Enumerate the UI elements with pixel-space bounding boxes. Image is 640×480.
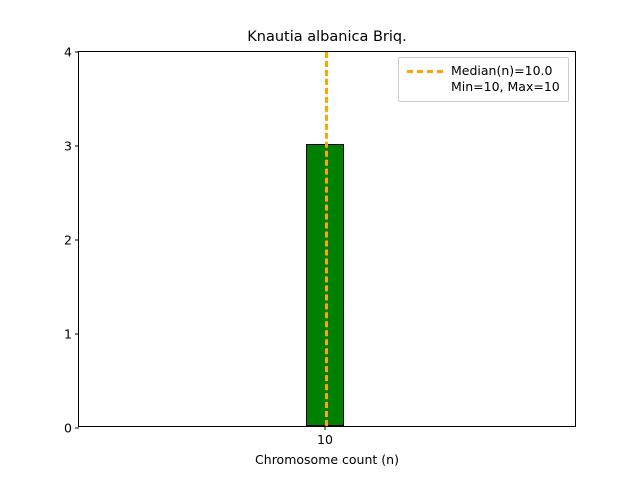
legend-entry-line2: Min=10, Max=10 xyxy=(451,79,560,95)
y-tick-label-2: 2 xyxy=(64,234,79,247)
legend-line-sample-icon xyxy=(407,63,443,79)
x-tick-label-0: 10 xyxy=(317,426,333,446)
y-axis-label: Num of counts (Total 3) xyxy=(16,0,50,51)
plot-area: 0 1 2 3 4 10 xyxy=(78,51,576,427)
chart-figure: Knautia albanica Briq. Num of counts (To… xyxy=(0,0,640,480)
y-tick-label-0: 0 xyxy=(64,422,79,435)
chart-legend: Median(n)=10.0 Min=10, Max=10 xyxy=(398,57,569,102)
x-axis-label: Chromosome count (n) xyxy=(78,452,576,467)
median-line xyxy=(325,52,328,426)
legend-entry-text: Median(n)=10.0 Min=10, Max=10 xyxy=(451,63,560,95)
y-tick-label-1: 1 xyxy=(64,328,79,341)
chart-title: Knautia albanica Briq. xyxy=(78,28,576,46)
legend-entry-line1: Median(n)=10.0 xyxy=(451,63,560,79)
y-tick-label-4: 4 xyxy=(64,46,79,59)
y-tick-label-3: 3 xyxy=(64,140,79,153)
